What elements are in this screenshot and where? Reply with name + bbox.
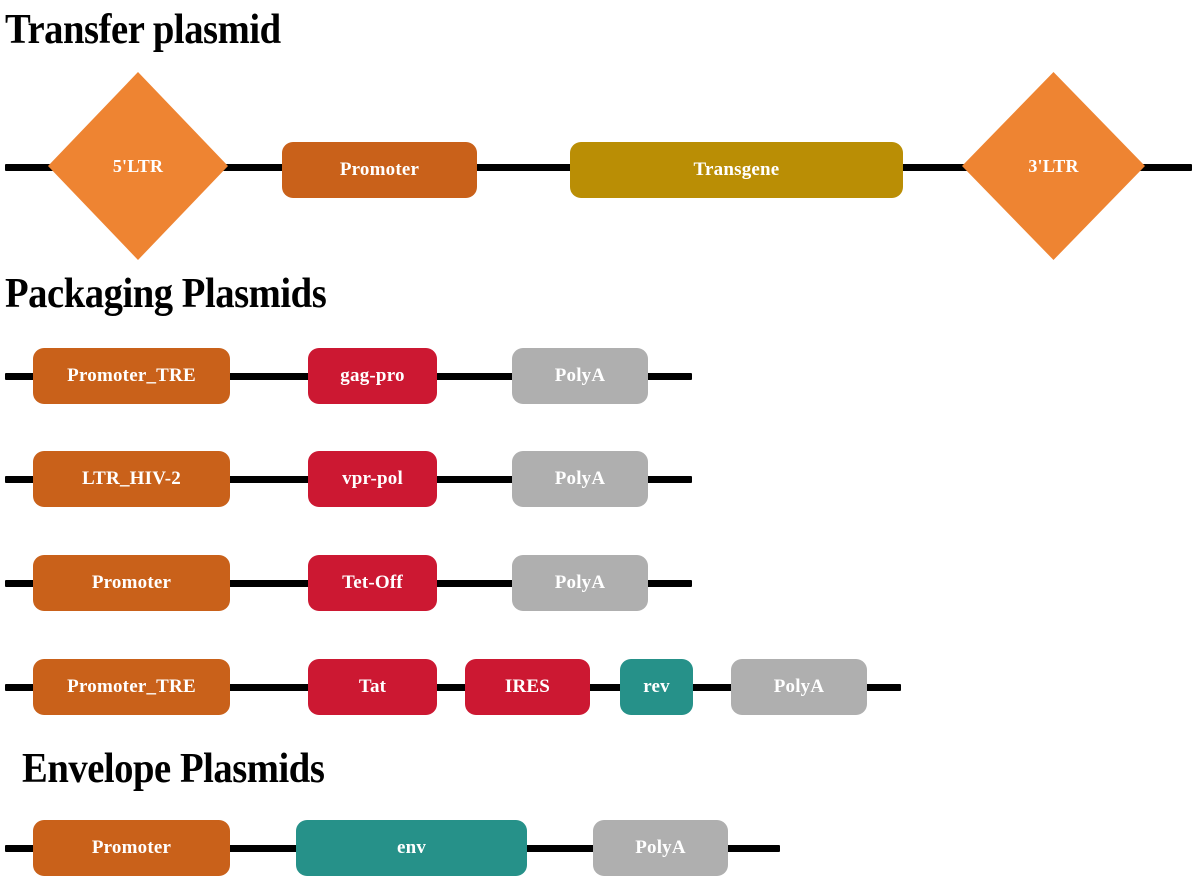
feature-polya[interactable]: PolyA	[593, 820, 728, 876]
feature-label: PolyA	[635, 837, 686, 859]
feature-env[interactable]: env	[296, 820, 527, 876]
feature-label: Promoter	[92, 837, 171, 859]
feature-label: env	[397, 837, 426, 859]
plasmid-diagram-canvas: Transfer plasmidPackaging PlasmidsEnvelo…	[0, 0, 1197, 879]
feature-promoter[interactable]: Promoter	[33, 820, 230, 876]
envelope-plasmid-env: PromoterenvPolyA	[0, 0, 1197, 879]
